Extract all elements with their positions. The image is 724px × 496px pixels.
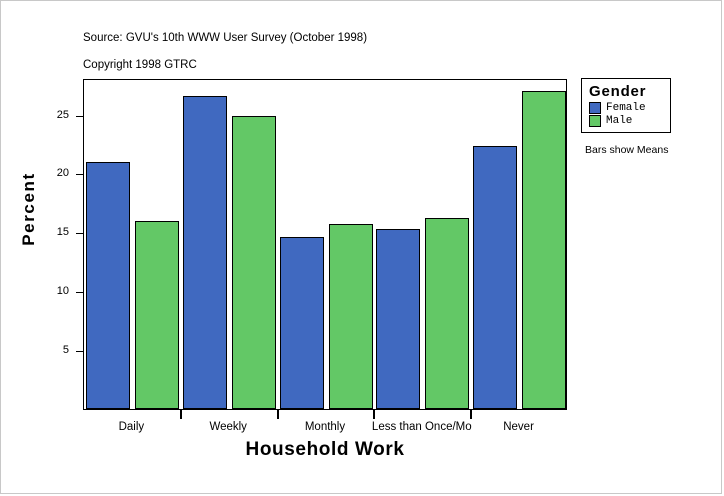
bar xyxy=(425,218,469,409)
bar xyxy=(232,116,276,409)
legend-entry: Female xyxy=(589,102,664,114)
copyright-note: Copyright 1998 GTRC xyxy=(83,59,197,72)
source-note: Source: GVU's 10th WWW User Survey (Octo… xyxy=(83,32,367,45)
legend-footnote: Bars show Means xyxy=(585,144,668,156)
x-axis-tick xyxy=(180,410,182,419)
bar xyxy=(473,146,517,409)
y-axis-tick-label: 5 xyxy=(29,345,69,356)
bar xyxy=(376,229,420,409)
legend-swatch-icon xyxy=(589,115,601,127)
bar xyxy=(86,162,130,409)
legend-entries: FemaleMale xyxy=(589,102,664,127)
bar xyxy=(329,224,373,409)
y-axis-tick xyxy=(76,233,83,234)
x-axis-tick xyxy=(277,410,279,419)
y-axis-tick xyxy=(76,292,83,293)
bar xyxy=(522,91,566,409)
x-axis-title: Household Work xyxy=(83,439,567,461)
x-axis-tick xyxy=(470,410,472,419)
x-axis-tick-label: Never xyxy=(450,421,587,434)
x-axis-tick xyxy=(373,410,375,419)
bars-container xyxy=(84,80,566,409)
y-axis-tick-label: 25 xyxy=(29,110,69,121)
y-axis-tick-label: 20 xyxy=(29,168,69,179)
legend-entry: Male xyxy=(589,115,664,127)
legend-title: Gender xyxy=(589,83,664,100)
bar xyxy=(280,237,324,409)
chart-page: Source: GVU's 10th WWW User Survey (Octo… xyxy=(0,0,722,494)
y-axis-title: Percent xyxy=(19,119,39,299)
legend-swatch-icon xyxy=(589,102,601,114)
plot-area xyxy=(83,79,567,410)
legend: Gender FemaleMale xyxy=(581,78,671,133)
y-axis-tick xyxy=(76,116,83,117)
legend-entry-label: Male xyxy=(606,115,632,127)
y-axis-tick xyxy=(76,174,83,175)
bar xyxy=(135,221,179,409)
y-axis-tick xyxy=(76,351,83,352)
y-axis-tick-label: 10 xyxy=(29,286,69,297)
y-axis-tick-label: 15 xyxy=(29,227,69,238)
bar xyxy=(183,96,227,409)
legend-entry-label: Female xyxy=(606,102,646,114)
